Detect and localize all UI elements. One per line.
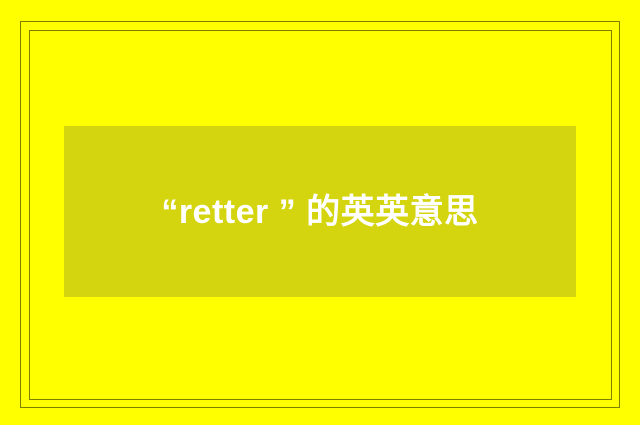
page-canvas: “retter ” 的英英意思 [0, 0, 640, 425]
page-title: “retter ” 的英英意思 [161, 181, 478, 243]
title-banner: “retter ” 的英英意思 [64, 126, 576, 297]
